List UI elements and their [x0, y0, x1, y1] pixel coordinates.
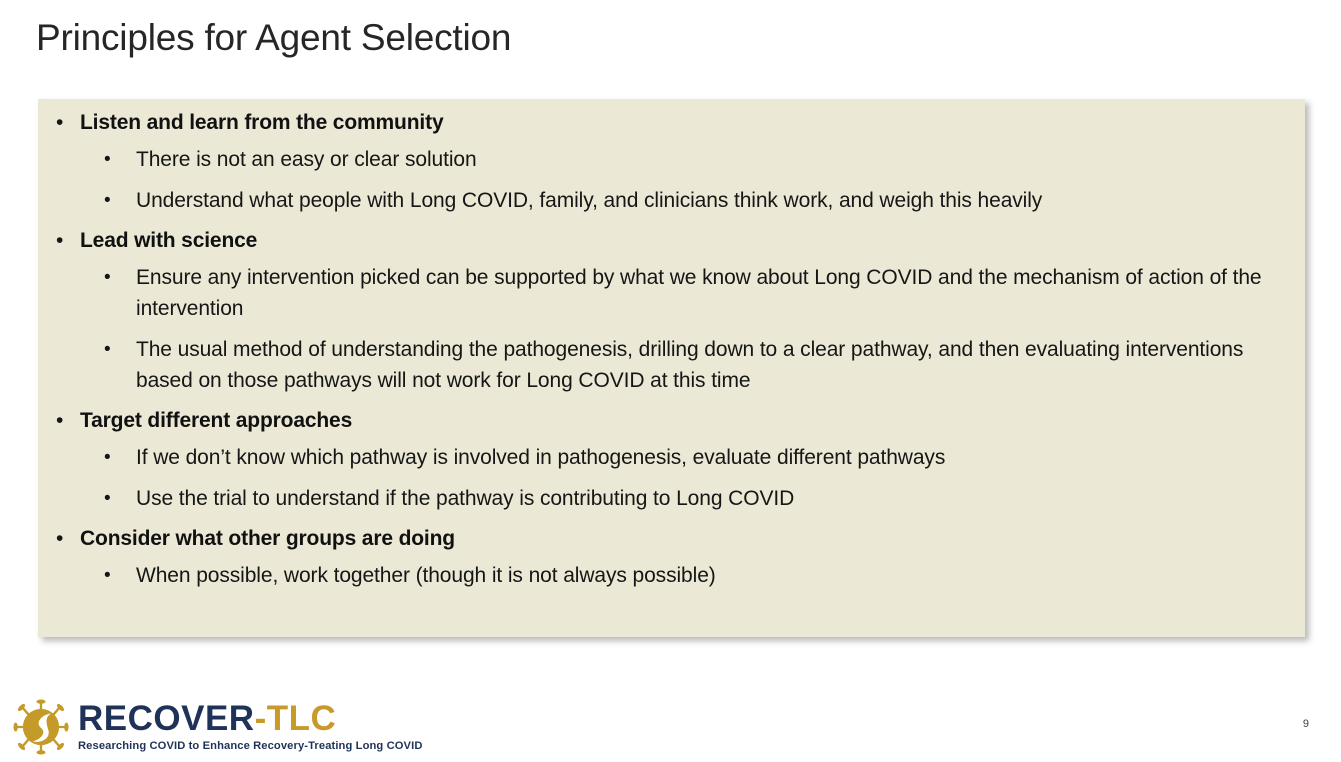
sub-bullet-dot-icon: • [104, 560, 136, 591]
page-title: Principles for Agent Selection [36, 16, 511, 60]
bullet-dot-icon: • [52, 406, 80, 436]
slide-footer: RECOVER-TLC Researching COVID to Enhance… [0, 678, 1341, 762]
principle-heading: •Lead with science [44, 226, 1291, 256]
sub-bullet-dot-icon: • [104, 144, 136, 175]
principle-heading-label: Lead with science [80, 226, 257, 256]
recover-tlc-logo: RECOVER-TLC Researching COVID to Enhance… [12, 698, 423, 756]
content-panel: •Listen and learn from the community•The… [38, 99, 1305, 637]
principle-subpoint: •Understand what people with Long COVID,… [44, 185, 1291, 216]
logo-wordmark-block: RECOVER-TLC Researching COVID to Enhance… [78, 701, 423, 754]
principle-subpoints: •When possible, work together (though it… [44, 560, 1291, 591]
principle-heading: •Listen and learn from the community [44, 108, 1291, 138]
principle-subpoint-label: When possible, work together (though it … [136, 560, 716, 591]
bullet-dot-icon: • [52, 226, 80, 256]
principle-subpoints: •Ensure any intervention picked can be s… [44, 262, 1291, 396]
principle-heading-label: Consider what other groups are doing [80, 524, 455, 554]
principle-subpoint-label: There is not an easy or clear solution [136, 144, 477, 175]
principle-subpoint: •There is not an easy or clear solution [44, 144, 1291, 175]
principle-heading-label: Listen and learn from the community [80, 108, 443, 138]
principle-subpoint: •The usual method of understanding the p… [44, 334, 1291, 396]
principle-subpoint-label: The usual method of understanding the pa… [136, 334, 1286, 396]
sub-bullet-dot-icon: • [104, 483, 136, 514]
sub-bullet-dot-icon: • [104, 262, 136, 293]
principle-subpoint-label: Ensure any intervention picked can be su… [136, 262, 1286, 324]
bullet-dot-icon: • [52, 108, 80, 138]
principle-subpoint-label: Use the trial to understand if the pathw… [136, 483, 794, 514]
bullet-dot-icon: • [52, 524, 80, 554]
principle-subpoints: •If we don’t know which pathway is invol… [44, 442, 1291, 514]
principle-heading: •Consider what other groups are doing [44, 524, 1291, 554]
principle-subpoint: •Use the trial to understand if the path… [44, 483, 1291, 514]
principles-list: •Listen and learn from the community•The… [44, 108, 1291, 591]
logo-wordmark: RECOVER-TLC [78, 701, 423, 736]
sub-bullet-dot-icon: • [104, 185, 136, 216]
principle-subpoint-label: If we don’t know which pathway is involv… [136, 442, 945, 473]
page-number: 9 [1303, 718, 1309, 730]
principle-subpoint: •When possible, work together (though it… [44, 560, 1291, 591]
principle-subpoint: •Ensure any intervention picked can be s… [44, 262, 1291, 324]
logo-tagline: Researching COVID to Enhance Recovery-Tr… [78, 740, 423, 752]
principle-heading: •Target different approaches [44, 406, 1291, 436]
principle-heading-label: Target different approaches [80, 406, 352, 436]
logo-wordmark-secondary: -TLC [255, 699, 337, 738]
sub-bullet-dot-icon: • [104, 334, 136, 365]
sub-bullet-dot-icon: • [104, 442, 136, 473]
logo-wordmark-primary: RECOVER [78, 699, 255, 738]
principle-subpoints: •There is not an easy or clear solution•… [44, 144, 1291, 216]
virus-icon [12, 698, 70, 756]
principle-subpoint: •If we don’t know which pathway is invol… [44, 442, 1291, 473]
slide-canvas: Principles for Agent Selection •Listen a… [0, 0, 1341, 762]
principle-subpoint-label: Understand what people with Long COVID, … [136, 185, 1042, 216]
